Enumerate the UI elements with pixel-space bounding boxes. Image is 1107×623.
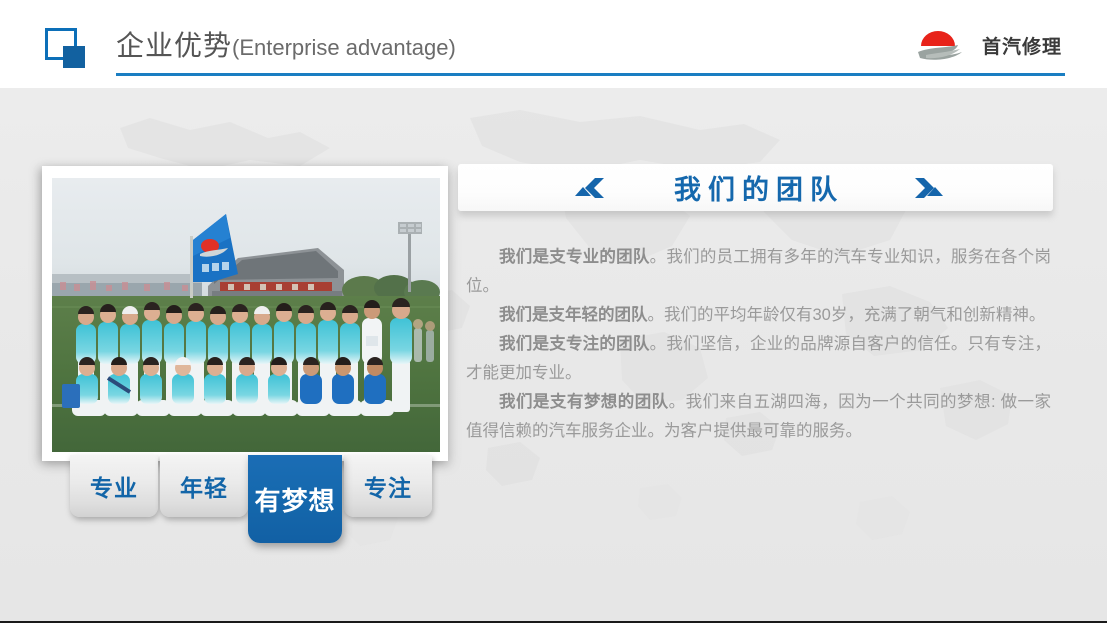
- tab-nianqing[interactable]: 年轻: [160, 455, 248, 517]
- paragraph-professional: 我们是支专业的团队。我们的员工拥有多年的汽车专业知识，服务在各个岗位。: [466, 243, 1051, 301]
- tab-zhuanye[interactable]: 专业: [70, 455, 158, 517]
- paragraph-lead: 我们是支有梦想的团队: [499, 393, 669, 411]
- page-title: 企业优势(Enterprise advantage): [116, 24, 456, 64]
- brand-lockup: 首汽修理: [916, 22, 1062, 68]
- paragraph-body: 。我们的平均年龄仅有30岁，充满了朝气和创新精神。: [648, 306, 1046, 324]
- double-square-icon: [45, 28, 87, 68]
- page-title-en: (Enterprise advantage): [232, 35, 456, 60]
- team-description: 我们是支专业的团队。我们的员工拥有多年的汽车专业知识，服务在各个岗位。 我们是支…: [466, 243, 1051, 446]
- brand-name: 首汽修理: [982, 32, 1062, 59]
- header-underline: [116, 73, 1065, 76]
- double-chevron-right-icon[interactable]: [913, 176, 947, 205]
- slide-header: 企业优势(Enterprise advantage) 首汽修理: [0, 0, 1107, 88]
- team-photo-card: [42, 166, 448, 461]
- paragraph-dreaming: 我们是支有梦想的团队。我们来自五湖四海，因为一个共同的梦想: 做一家值得信赖的汽…: [466, 388, 1051, 446]
- tab-youmengxiang[interactable]: 有梦想: [248, 455, 342, 543]
- paragraph-focused: 我们是支专注的团队。我们坚信，企业的品牌源自客户的信任。只有专注，才能更加专业。: [466, 330, 1051, 388]
- section-title: 我们的团队: [458, 164, 1053, 211]
- paragraph-lead: 我们是支专注的团队: [499, 335, 650, 353]
- slide-canvas: 企业优势(Enterprise advantage) 首汽修理: [0, 0, 1107, 623]
- tab-zhuanzhu[interactable]: 专注: [344, 455, 432, 517]
- shouqi-sun-swoosh-logo: [916, 25, 970, 65]
- section-title-banner: 我们的团队: [458, 164, 1053, 211]
- team-group-photo: [52, 178, 440, 452]
- page-title-cn: 企业优势: [116, 30, 232, 61]
- square-filled-shape: [63, 46, 85, 68]
- paragraph-lead: 我们是支年轻的团队: [499, 306, 648, 324]
- paragraph-lead: 我们是支专业的团队: [499, 248, 650, 266]
- paragraph-young: 我们是支年轻的团队。我们的平均年龄仅有30岁，充满了朝气和创新精神。: [466, 301, 1051, 330]
